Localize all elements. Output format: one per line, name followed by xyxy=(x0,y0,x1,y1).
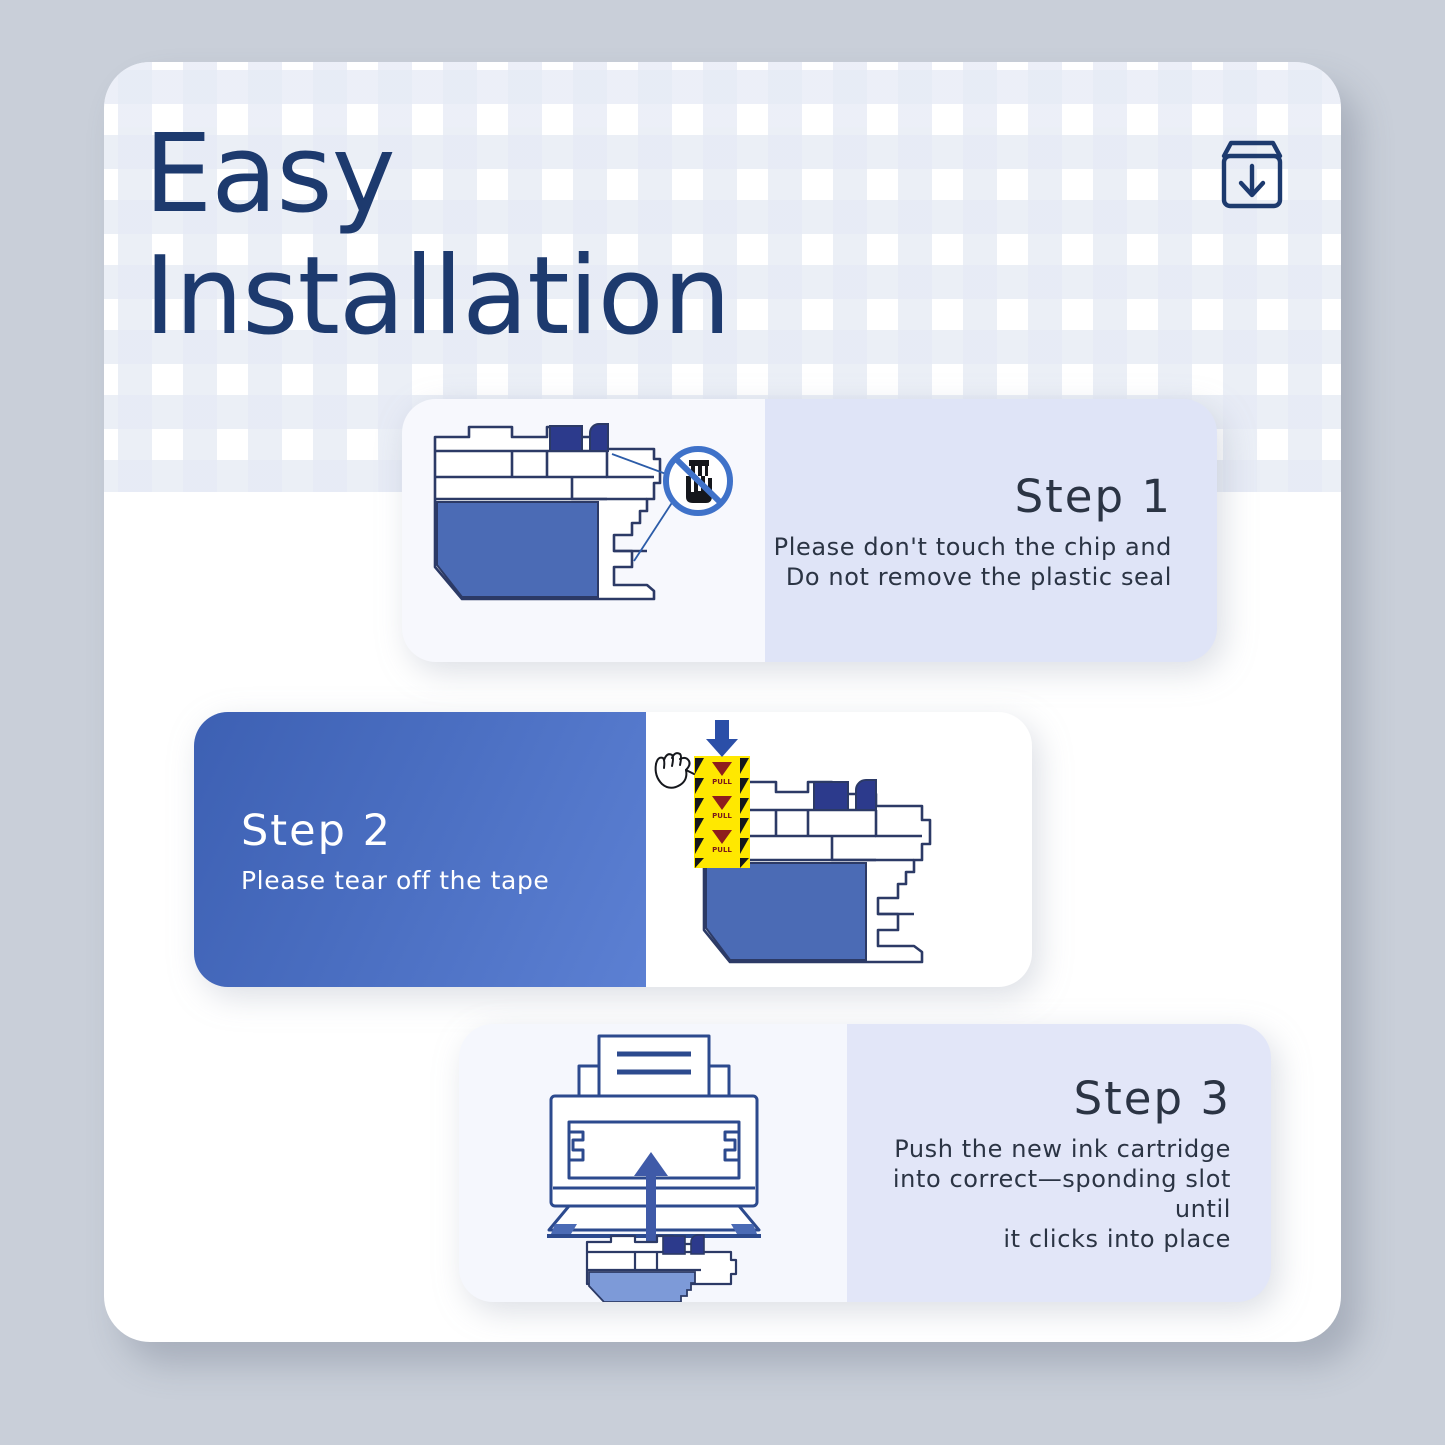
step-3-illustration-panel xyxy=(459,1024,847,1302)
title-line-installation: Installation xyxy=(144,236,964,358)
tape-label: PULL xyxy=(712,778,732,786)
step-1-heading: Step 1 xyxy=(765,470,1172,524)
pointing-hand-icon xyxy=(656,753,694,788)
tape-label: PULL xyxy=(712,812,732,820)
step-1-text-panel: Step 1 Please don't touch the chip and D… xyxy=(765,399,1217,662)
step-3-heading: Step 3 xyxy=(847,1072,1231,1126)
step-card-1[interactable]: Step 1 Please don't touch the chip and D… xyxy=(402,399,1217,662)
ink-cartridge-pull-tape-illustration: PULL PULL PULL xyxy=(646,712,1032,987)
step-1-description: Please don't touch the chip and Do not r… xyxy=(765,532,1172,592)
step-3-text-panel: Step 3 Push the new ink cartridge into c… xyxy=(847,1024,1271,1302)
page-title: Easy Installation xyxy=(144,114,964,358)
step-2-text-panel: Step 2 Please tear off the tape xyxy=(194,712,646,987)
poster-card: Easy Installation xyxy=(104,62,1341,1342)
title-line-easy: Easy xyxy=(144,114,964,236)
step-2-illustration-panel: PULL PULL PULL xyxy=(646,712,1032,987)
printer-insert-cartridge-illustration xyxy=(459,1024,847,1302)
step-3-description: Push the new ink cartridge into correct—… xyxy=(847,1134,1231,1254)
package-download-icon xyxy=(1211,134,1293,216)
down-arrow-icon xyxy=(706,720,738,757)
step-2-description: Please tear off the tape xyxy=(241,866,646,896)
step-2-heading: Step 2 xyxy=(241,804,646,858)
pull-tape-icon: PULL PULL PULL xyxy=(694,756,750,868)
ink-cartridge-no-touch-illustration xyxy=(402,399,765,662)
no-touch-hand-icon xyxy=(665,448,731,514)
step-1-illustration-panel xyxy=(402,399,765,662)
step-card-2[interactable]: Step 2 Please tear off the tape xyxy=(194,712,1032,987)
tape-label: PULL xyxy=(712,846,732,854)
step-card-3[interactable]: Step 3 Push the new ink cartridge into c… xyxy=(459,1024,1271,1302)
